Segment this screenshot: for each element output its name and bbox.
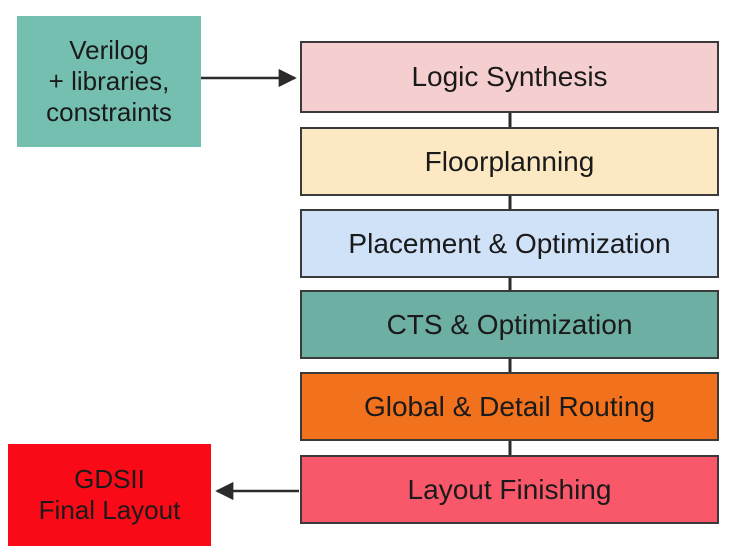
stage-floorplanning[interactable]: Floorplanning [300, 127, 719, 196]
verilog-input-block[interactable]: Verilog + libraries, constraints [17, 16, 201, 147]
stage-layout-finishing[interactable]: Layout Finishing [300, 455, 719, 524]
stage-logic-synthesis[interactable]: Logic Synthesis [300, 41, 719, 113]
stage-placement-optimization[interactable]: Placement & Optimization [300, 209, 719, 278]
stage-cts-optimization[interactable]: CTS & Optimization [300, 290, 719, 359]
stage-global-detail-routing[interactable]: Global & Detail Routing [300, 372, 719, 441]
diagram-canvas: Verilog + libraries, constraints Logic S… [0, 0, 746, 558]
gdsii-output-block[interactable]: GDSII Final Layout [8, 444, 211, 546]
